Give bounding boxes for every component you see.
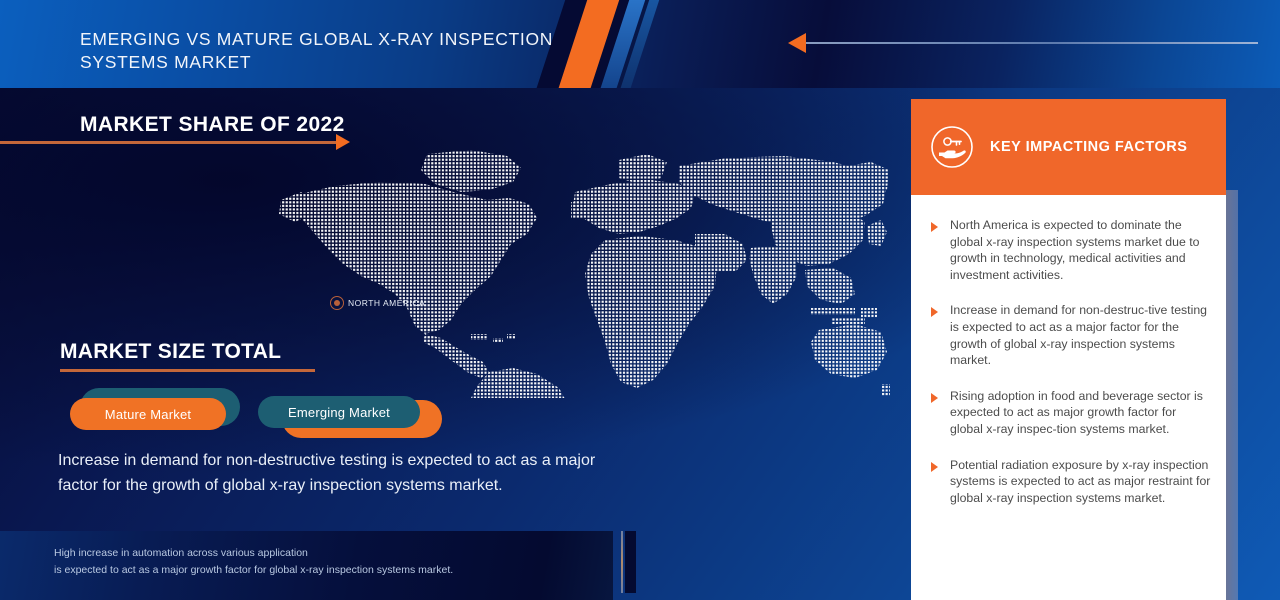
footer-accent-line (621, 531, 623, 593)
list-item-text: Rising adoption in food and beverage sec… (950, 388, 1212, 438)
market-share-title: MARKET SHARE OF 2022 (80, 113, 345, 137)
bullet-arrow-icon (931, 457, 940, 507)
key-factors-list: North America is expected to dominate th… (911, 195, 1226, 525)
list-item: Rising adoption in food and beverage sec… (931, 388, 1212, 438)
legend-pill-label: Emerging Market (258, 396, 420, 428)
legend-item-mature-market[interactable]: Mature Market (66, 388, 246, 438)
map-region-label: NORTH AMERICA (348, 298, 425, 308)
list-item: North America is expected to dominate th… (931, 217, 1212, 283)
market-size-title: MARKET SIZE TOTAL (60, 340, 281, 364)
header-pointer (788, 31, 1258, 53)
bullet-arrow-icon (931, 302, 940, 368)
header-band: EMERGING VS MATURE GLOBAL X-RAY INSPECTI… (0, 0, 1280, 88)
list-item-text: Potential radiation exposure by x-ray in… (950, 457, 1212, 507)
panel-heading: KEY IMPACTING FACTORS (990, 139, 1187, 155)
list-item: Increase in demand for non-destruc-tive … (931, 302, 1212, 368)
legend-item-emerging-market[interactable]: Emerging Market (258, 388, 438, 438)
hand-holding-key-icon (930, 125, 974, 169)
marker-dot (334, 300, 340, 306)
list-item: Potential radiation exposure by x-ray in… (931, 457, 1212, 507)
footer-line-1: High increase in automation across vario… (54, 545, 599, 562)
market-share-arrow-line (0, 141, 338, 144)
bullet-arrow-icon (931, 388, 940, 438)
header-pointer-line (806, 42, 1258, 44)
footer-accent-block (625, 531, 636, 593)
left-arrow-icon (788, 33, 806, 53)
key-impacting-factors-panel: KEY IMPACTING FACTORS North America is e… (911, 99, 1226, 600)
footer-text: High increase in automation across vario… (54, 545, 599, 579)
list-item-text: North America is expected to dominate th… (950, 217, 1212, 283)
panel-shadow (1226, 190, 1238, 600)
world-map-dotted (275, 148, 890, 398)
legend-pill-label: Mature Market (70, 398, 226, 430)
target-marker-icon (330, 296, 344, 310)
panel-header: KEY IMPACTING FACTORS (911, 99, 1226, 195)
infographic-canvas: EMERGING VS MATURE GLOBAL X-RAY INSPECTI… (0, 0, 1280, 600)
list-item-text: Increase in demand for non-destruc-tive … (950, 302, 1212, 368)
footer-line-2: is expected to act as a major growth fac… (54, 562, 599, 579)
body-paragraph: Increase in demand for non-destructive t… (58, 449, 613, 498)
bullet-arrow-icon (931, 217, 940, 283)
market-size-underline (60, 369, 315, 372)
page-title: EMERGING VS MATURE GLOBAL X-RAY INSPECTI… (80, 28, 600, 74)
